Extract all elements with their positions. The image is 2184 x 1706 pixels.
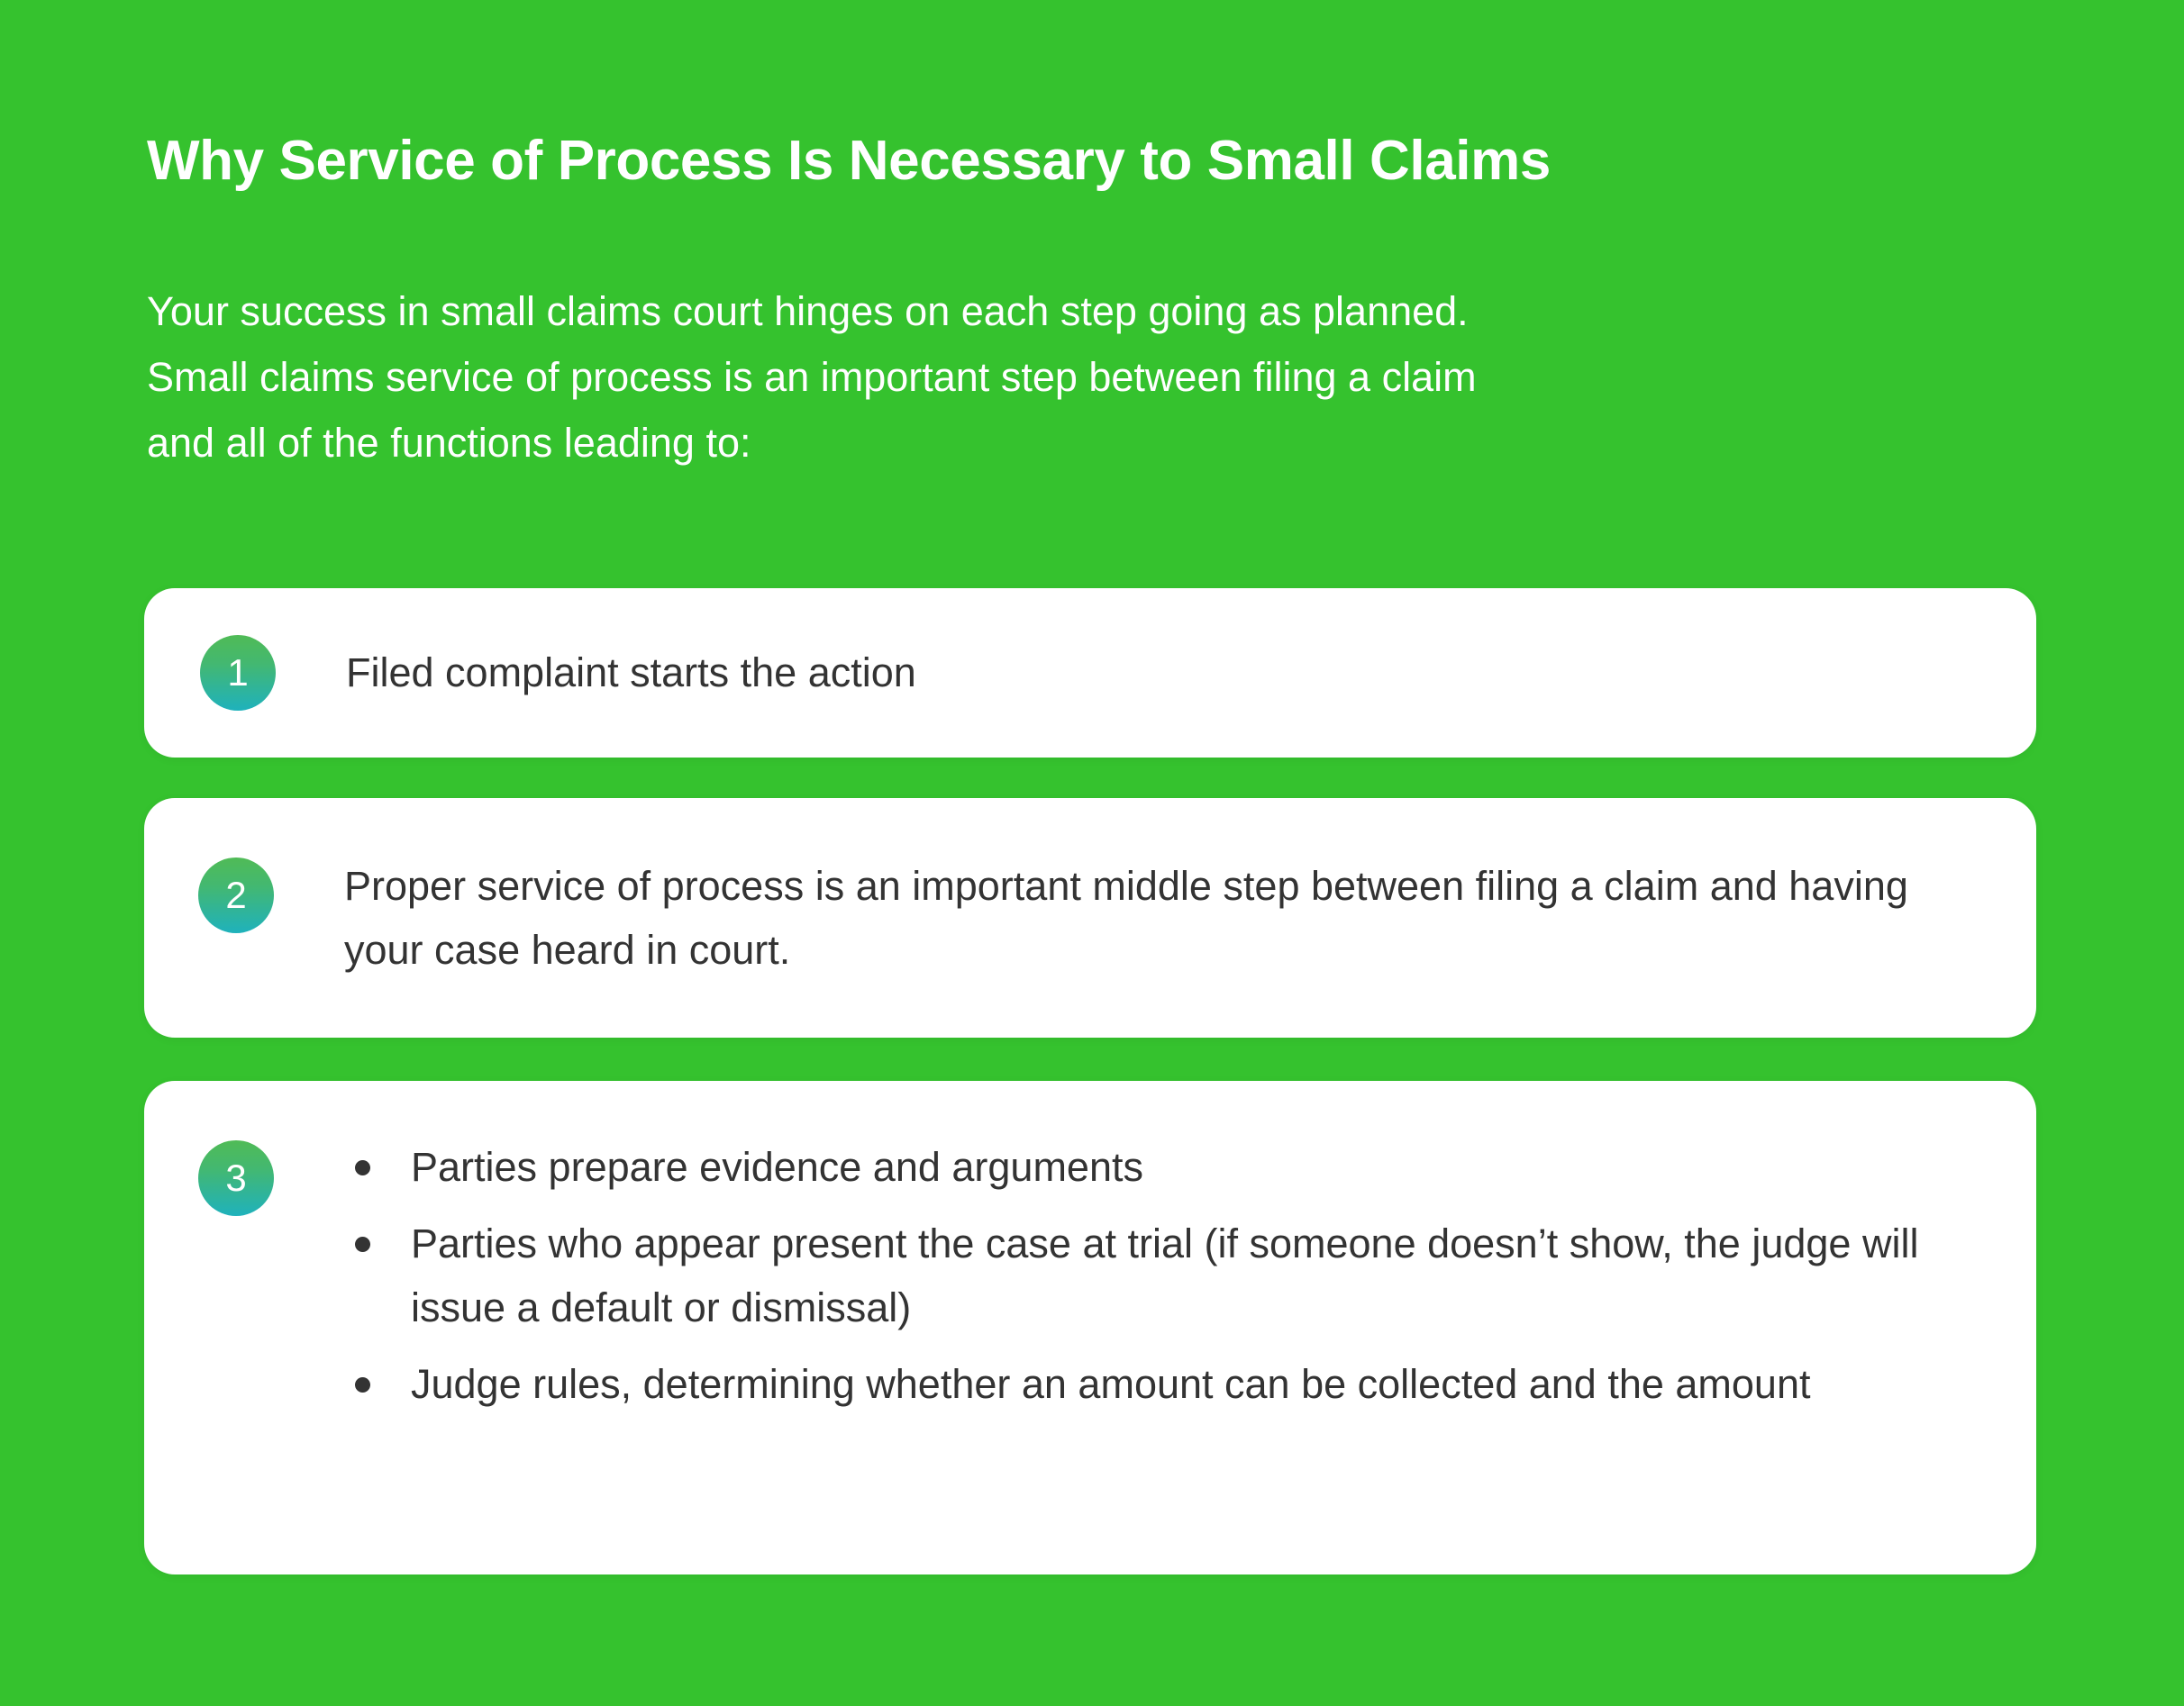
list-item-label: Judge rules, determining whether an amou… xyxy=(411,1361,1811,1407)
bullet-dot-icon xyxy=(355,1160,370,1175)
intro-paragraph: Your success in small claims court hinge… xyxy=(147,279,1958,476)
intro-line-2: Small claims service of process is an im… xyxy=(147,345,1958,411)
list-item-label: Parties who appear present the case at t… xyxy=(411,1221,1918,1330)
bullet-dot-icon xyxy=(355,1377,370,1393)
list-item: Parties who appear present the case at t… xyxy=(344,1211,1982,1339)
intro-line-3: and all of the functions leading to: xyxy=(147,411,1958,476)
page-title: Why Service of Process Is Necessary to S… xyxy=(147,130,2039,192)
step-number-badge-2: 2 xyxy=(198,858,274,933)
steps-list: 1 Filed complaint starts the action 2 Pr… xyxy=(144,588,2036,1574)
step-text-2: Proper service of process is an importan… xyxy=(344,854,1982,982)
step-number-badge-3: 3 xyxy=(198,1140,274,1216)
step-text-3: Parties prepare evidence and arguments P… xyxy=(344,1135,1982,1416)
list-item: Judge rules, determining whether an amou… xyxy=(344,1352,1982,1416)
step-3-bullet-list: Parties prepare evidence and arguments P… xyxy=(344,1135,1982,1416)
step-card-1: 1 Filed complaint starts the action xyxy=(144,588,2036,758)
step-number-badge-1: 1 xyxy=(200,635,276,711)
step-text-1: Filed complaint starts the action xyxy=(346,649,1982,697)
list-item-label: Parties prepare evidence and arguments xyxy=(411,1144,1143,1190)
step-card-3: 3 Parties prepare evidence and arguments… xyxy=(144,1081,2036,1574)
intro-line-1: Your success in small claims court hinge… xyxy=(147,279,1958,345)
bullet-dot-icon xyxy=(355,1237,370,1252)
infographic-canvas: Why Service of Process Is Necessary to S… xyxy=(0,0,2184,1706)
list-item: Parties prepare evidence and arguments xyxy=(344,1135,1982,1199)
step-card-2: 2 Proper service of process is an import… xyxy=(144,798,2036,1038)
